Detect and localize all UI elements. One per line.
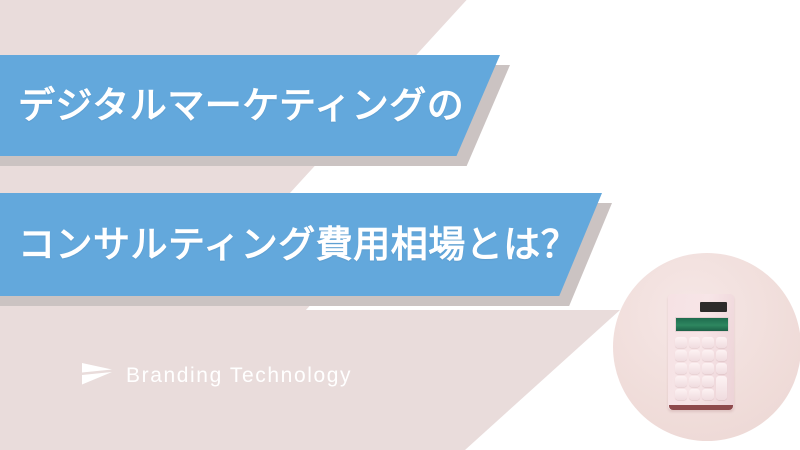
- calculator-key: [689, 363, 701, 374]
- calculator-key: [689, 350, 701, 361]
- calculator-key: [702, 376, 714, 387]
- calculator-key: [675, 350, 687, 361]
- headline-line-2: コンサルティング費用相場とは？: [18, 226, 578, 263]
- calculator-key: [702, 389, 714, 400]
- calculator-key: [689, 376, 701, 387]
- calculator-key: [689, 389, 701, 400]
- calculator-keypad: [675, 337, 727, 400]
- calculator-key: [675, 363, 687, 374]
- calculator-key: [716, 337, 728, 348]
- arrow-chevron-icon: [82, 363, 112, 387]
- brand-logo-text: Branding Technology: [126, 365, 352, 386]
- calculator-base-shadow: [669, 405, 733, 410]
- headline-line-1: デジタルマーケティングの: [18, 87, 464, 124]
- lcd-display-icon: [675, 317, 729, 332]
- headline-banner-2: コンサルティング費用相場とは？: [0, 193, 602, 296]
- calculator-key: [716, 363, 728, 374]
- calculator-key: [689, 337, 701, 348]
- calculator-key: [675, 337, 687, 348]
- calculator-key-equals: [716, 376, 728, 400]
- solar-panel-icon: [700, 302, 727, 312]
- calculator-key: [702, 337, 714, 348]
- headline-banner-1: デジタルマーケティングの: [0, 55, 500, 156]
- eyecatch-banner-canvas: デジタルマーケティングの コンサルティング費用相場とは？ Branding Te…: [0, 0, 800, 450]
- calculator-key: [675, 389, 687, 400]
- calculator-key: [702, 350, 714, 361]
- calculator-key: [702, 363, 714, 374]
- brand-logo: Branding Technology: [82, 363, 352, 387]
- calculator-icon: [668, 294, 734, 410]
- calculator-key: [716, 350, 728, 361]
- calculator-key: [675, 376, 687, 387]
